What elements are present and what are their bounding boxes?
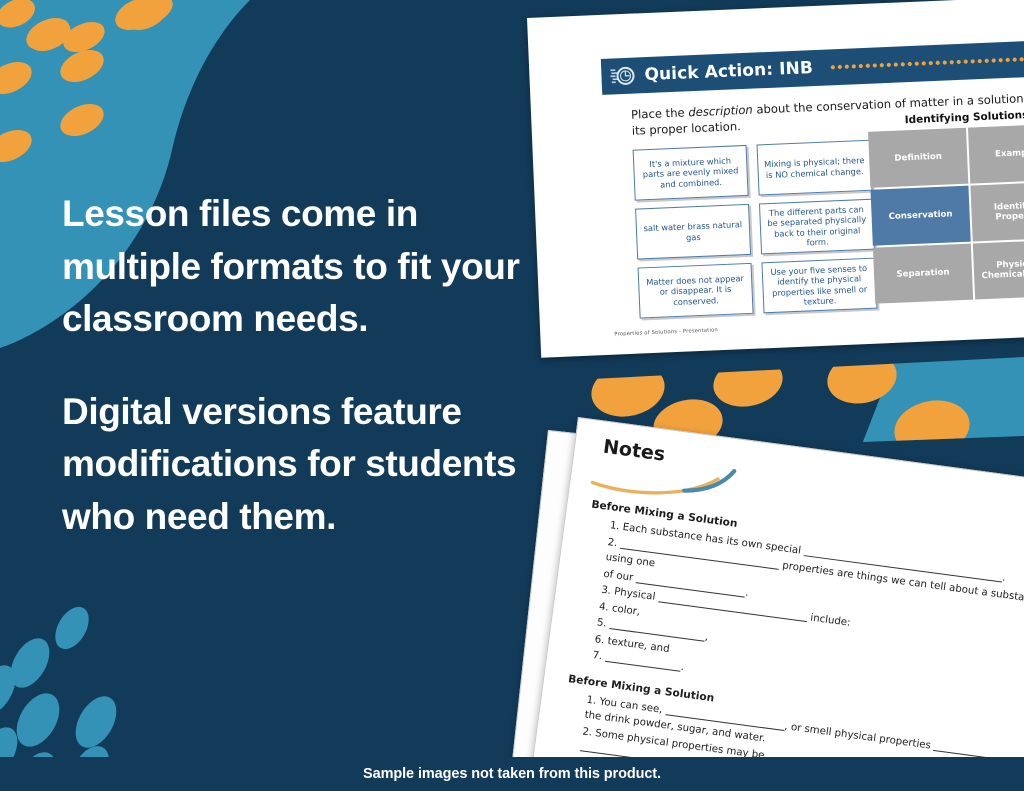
item-text: 5. — [596, 617, 607, 629]
prompt-emphasis: description — [688, 103, 753, 120]
notes-worksheet-card[interactable]: Notes Before Mixing a Solution 1. Each s… — [528, 417, 1024, 791]
subcopy: Digital versions feature modifications f… — [62, 386, 532, 544]
inline-text: include: — [810, 613, 851, 629]
table-cell[interactable]: Examples — [968, 124, 1024, 184]
headline: Lesson files come in multiple formats to… — [62, 188, 532, 346]
drag-card[interactable]: It's a mixture which parts are evenly mi… — [633, 145, 749, 201]
prompt-pre: Place the — [631, 105, 689, 121]
item-text: 4. color, — [598, 601, 640, 617]
table-cell[interactable]: Separation — [873, 244, 973, 304]
quick-action-title: Quick Action: INB — [644, 58, 813, 85]
table-cell[interactable]: Identifying Properties — [970, 181, 1024, 241]
drag-card-grid: It's a mixture which parts are evenly mi… — [633, 140, 878, 319]
slide-surface: Quick Action: INB Place the description … — [527, 0, 1024, 358]
marketing-copy: Lesson files come in multiple formats to… — [62, 188, 532, 543]
drag-card[interactable]: Mixing is physical; there is NO chemical… — [756, 140, 872, 196]
quick-action-banner: Quick Action: INB — [601, 39, 1024, 95]
item-text: of our — [603, 568, 634, 583]
table-grid: Definition Examples Conservation Identif… — [868, 124, 1024, 304]
identifying-solutions-table: Identifying Solutions Definition Example… — [867, 108, 1024, 304]
notes-body: Before Mixing a Solution 1. Each substan… — [556, 497, 1024, 791]
item-text: 7. — [592, 650, 603, 662]
sample-disclaimer-banner: Sample images not taken from this produc… — [0, 757, 1024, 791]
slide-footer-left: Properties of Solutions - Presentation — [614, 327, 718, 337]
drag-card[interactable]: salt water brass natural gas — [635, 204, 751, 260]
drag-card[interactable]: Matter does not appear or disappear. It … — [638, 263, 754, 319]
disclaimer-text: Sample images not taken from this produc… — [363, 766, 661, 782]
stopwatch-icon — [610, 64, 637, 87]
item-text: 2. — [607, 537, 618, 549]
dotted-rule — [829, 53, 1024, 70]
notes-surface: Notes Before Mixing a Solution 1. Each s… — [528, 417, 1024, 791]
presentation-slide-card[interactable]: Quick Action: INB Place the description … — [527, 0, 1024, 358]
table-cell[interactable]: Definition — [868, 128, 968, 188]
table-cell[interactable]: Physical or Chemical Change — [973, 239, 1024, 299]
table-cell-highlighted[interactable]: Conservation — [870, 186, 970, 246]
drag-card[interactable]: Use your five senses to identify the phy… — [761, 258, 877, 314]
drag-card[interactable]: The different parts can be separated phy… — [759, 199, 875, 255]
